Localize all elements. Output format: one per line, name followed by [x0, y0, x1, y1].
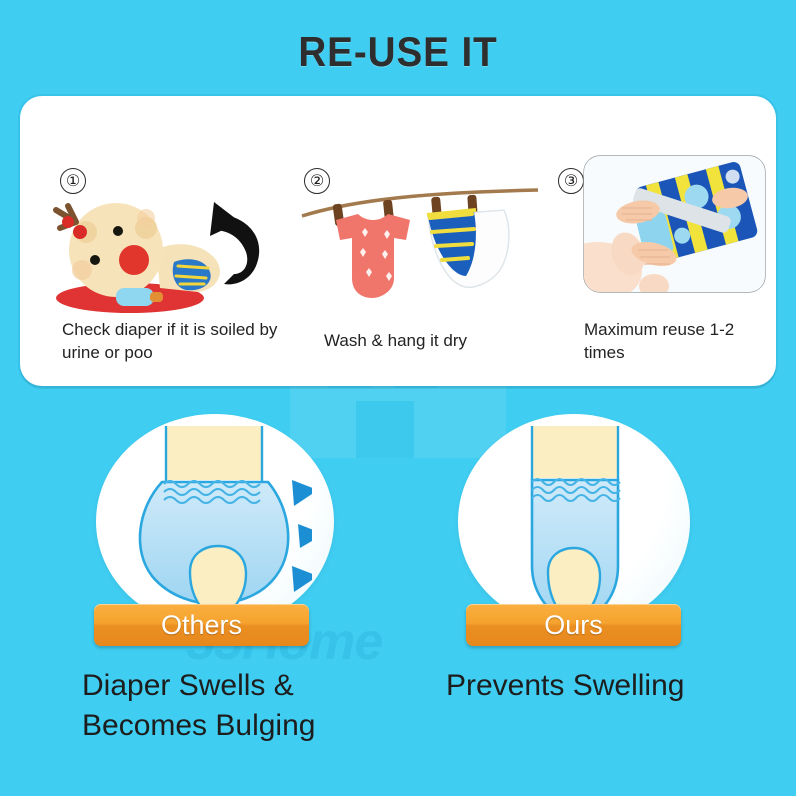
- expansion-arrows: [292, 480, 312, 592]
- baby-soiled-diaper-illustration: [38, 188, 288, 318]
- step-3: ③: [548, 96, 773, 386]
- slim-diaper-illustration: [488, 424, 658, 624]
- hands-holding-diaper-photo: [582, 154, 767, 318]
- ours-caption: Prevents Swelling: [446, 666, 786, 706]
- step-number-3: ③: [558, 168, 584, 194]
- page-title: RE-USE IT: [32, 28, 764, 76]
- clothesline-onesie-diaper-illustration: [296, 188, 544, 318]
- step-caption-2: Wash & hang it dry: [324, 329, 544, 352]
- comparison-others: Others Diaper Swells & Becomes Bulging: [70, 414, 400, 744]
- bulging-diaper-illustration: [122, 424, 312, 624]
- others-pill-label: Others: [94, 604, 309, 646]
- step-caption-3: Maximum reuse 1-2 times: [584, 318, 774, 364]
- step-caption-1: Check diaper if it is soiled by urine or…: [62, 318, 284, 364]
- infographic-page: 55Home RE-USE IT ①: [0, 0, 796, 796]
- others-caption: Diaper Swells & Becomes Bulging: [82, 666, 422, 746]
- ours-pill-label: Ours: [466, 604, 681, 646]
- steps-card: ①: [20, 96, 776, 386]
- step-1: ①: [38, 96, 288, 386]
- comparison-ours: Ours Prevents Swelling: [430, 414, 760, 744]
- step-2: ②: [296, 96, 544, 386]
